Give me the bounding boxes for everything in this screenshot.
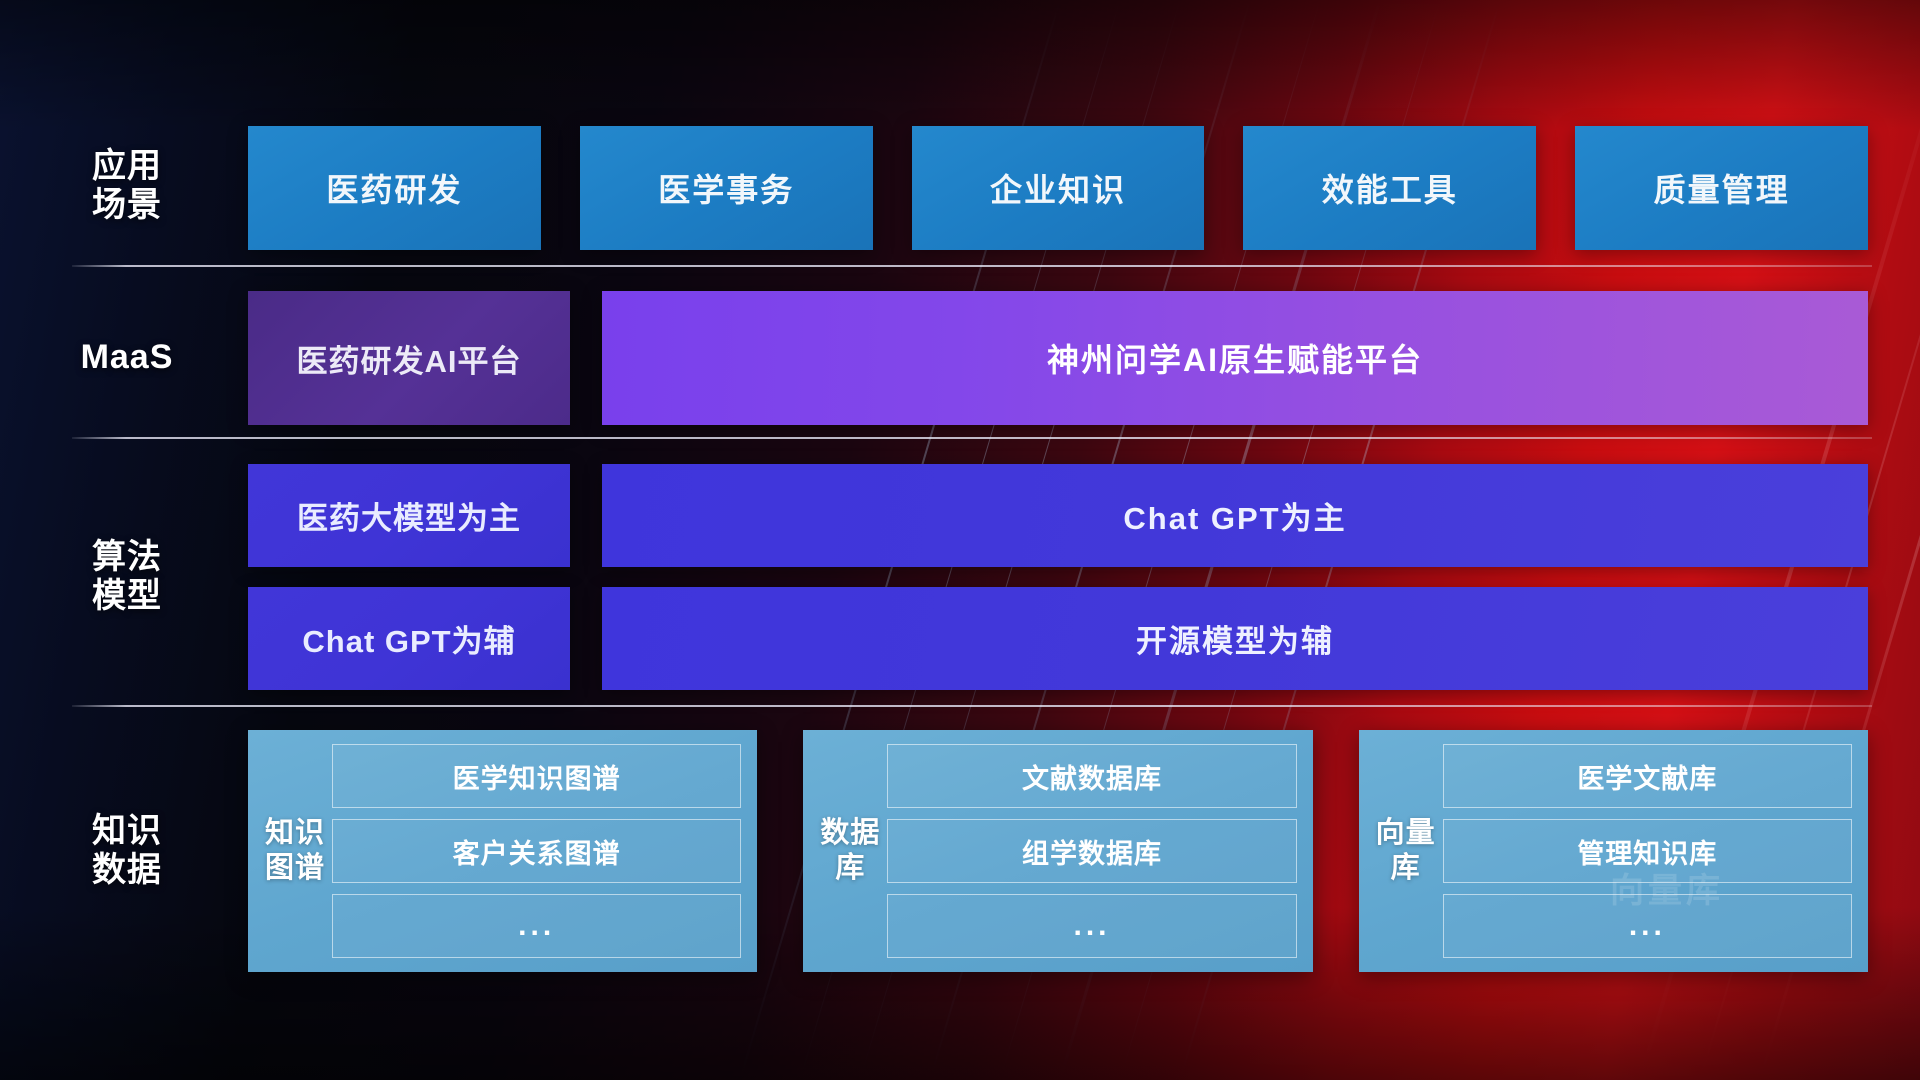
knowledge-item-omics-db[interactable]: 组学数据库: [887, 819, 1296, 883]
maas-box-label: 神州问学AI原生赋能平台: [1047, 335, 1423, 381]
app-box-efficiency-tools[interactable]: 效能工具: [1243, 126, 1536, 250]
knowledge-item-label: 组学数据库: [1022, 832, 1162, 871]
maas-box-shenzhou-wenxue-platform[interactable]: 神州问学AI原生赋能平台: [602, 291, 1868, 425]
knowledge-item-label: 客户关系图谱: [453, 832, 621, 871]
row-label-algorithms: 算法 模型: [42, 464, 212, 690]
divider-applications-maas: [72, 265, 1872, 267]
algo-box-label: Chat GPT为辅: [302, 616, 515, 661]
app-box-label: 企业知识: [990, 165, 1126, 211]
knowledge-panel-vertical-label: 数据库: [813, 744, 887, 958]
algo-box-chatgpt-primary[interactable]: Chat GPT为主: [602, 464, 1868, 567]
algorithms-line-primary: 医药大模型为主 Chat GPT为主: [248, 464, 1868, 567]
divider-algorithms-knowledge: [72, 705, 1872, 707]
knowledge-item-label: 医学文献库: [1577, 757, 1717, 796]
knowledge-item-label: ...: [518, 909, 555, 943]
knowledge-panel-vector-db: 向量库 医学文献库 管理知识库 ...: [1359, 730, 1868, 972]
knowledge-item-literature-db[interactable]: 文献数据库: [887, 744, 1296, 808]
app-box-label: 质量管理: [1654, 165, 1790, 211]
knowledge-item-label: ...: [1629, 909, 1666, 943]
divider-maas-algorithms: [72, 437, 1872, 439]
app-box-label: 医学事务: [658, 165, 794, 211]
algo-box-chatgpt-secondary[interactable]: Chat GPT为辅: [248, 587, 570, 690]
knowledge-item-more[interactable]: ...: [887, 894, 1296, 958]
knowledge-item-medical-literature[interactable]: 医学文献库: [1443, 744, 1852, 808]
app-box-label: 医药研发: [326, 165, 462, 211]
algo-box-opensource-secondary[interactable]: 开源模型为辅: [602, 587, 1868, 690]
algo-box-label: Chat GPT为主: [1123, 493, 1346, 538]
knowledge-panel-items: 医学文献库 管理知识库 ...: [1443, 744, 1852, 958]
row-label-maas: MaaS: [42, 291, 212, 425]
row-label-knowledge: 知识 数据: [42, 730, 212, 972]
knowledge-item-label: 文献数据库: [1022, 757, 1162, 796]
knowledge-item-label: 医学知识图谱: [453, 757, 621, 796]
maas-row: 医药研发AI平台 神州问学AI原生赋能平台: [248, 291, 1868, 425]
knowledge-item-more[interactable]: ...: [332, 894, 741, 958]
knowledge-row: 知识图谱 医学知识图谱 客户关系图谱 ... 数据库: [248, 730, 1868, 972]
diagram-canvas: 应用 场景 医药研发 医学事务 企业知识 效能工具 质量管理 MaaS 医药研发…: [0, 0, 1920, 1080]
row-label-applications: 应用 场景: [42, 124, 212, 248]
app-box-medical-affairs[interactable]: 医学事务: [580, 126, 873, 250]
knowledge-item-customer-graph[interactable]: 客户关系图谱: [332, 819, 741, 883]
knowledge-item-medical-graph[interactable]: 医学知识图谱: [332, 744, 741, 808]
app-box-medicine-rd[interactable]: 医药研发: [248, 126, 541, 250]
app-box-label: 效能工具: [1322, 165, 1458, 211]
app-box-quality-management[interactable]: 质量管理: [1575, 126, 1868, 250]
knowledge-panel-database: 数据库 文献数据库 组学数据库 ...: [803, 730, 1312, 972]
knowledge-panel-items: 文献数据库 组学数据库 ...: [887, 744, 1296, 958]
algorithms-row: 医药大模型为主 Chat GPT为主 Chat GPT为辅 开源模型为辅: [248, 464, 1868, 690]
algo-box-label: 医药大模型为主: [297, 493, 521, 538]
algo-box-pharma-large-model-primary[interactable]: 医药大模型为主: [248, 464, 570, 567]
knowledge-panel-knowledge-graph: 知识图谱 医学知识图谱 客户关系图谱 ...: [248, 730, 757, 972]
knowledge-panel-vertical-label: 向量库: [1369, 744, 1443, 958]
app-box-enterprise-knowledge[interactable]: 企业知识: [912, 126, 1205, 250]
knowledge-item-management-knowledge[interactable]: 管理知识库: [1443, 819, 1852, 883]
algorithms-line-secondary: Chat GPT为辅 开源模型为辅: [248, 587, 1868, 690]
maas-box-pharma-ai-platform[interactable]: 医药研发AI平台: [248, 291, 570, 425]
algo-box-label: 开源模型为辅: [1136, 616, 1334, 661]
applications-row: 医药研发 医学事务 企业知识 效能工具 质量管理: [248, 126, 1868, 250]
maas-box-label: 医药研发AI平台: [297, 336, 522, 381]
knowledge-panel-items: 医学知识图谱 客户关系图谱 ...: [332, 744, 741, 958]
knowledge-panel-vertical-label: 知识图谱: [258, 744, 332, 958]
knowledge-item-label: 管理知识库: [1577, 832, 1717, 871]
knowledge-item-more[interactable]: ...: [1443, 894, 1852, 958]
knowledge-item-label: ...: [1073, 909, 1110, 943]
